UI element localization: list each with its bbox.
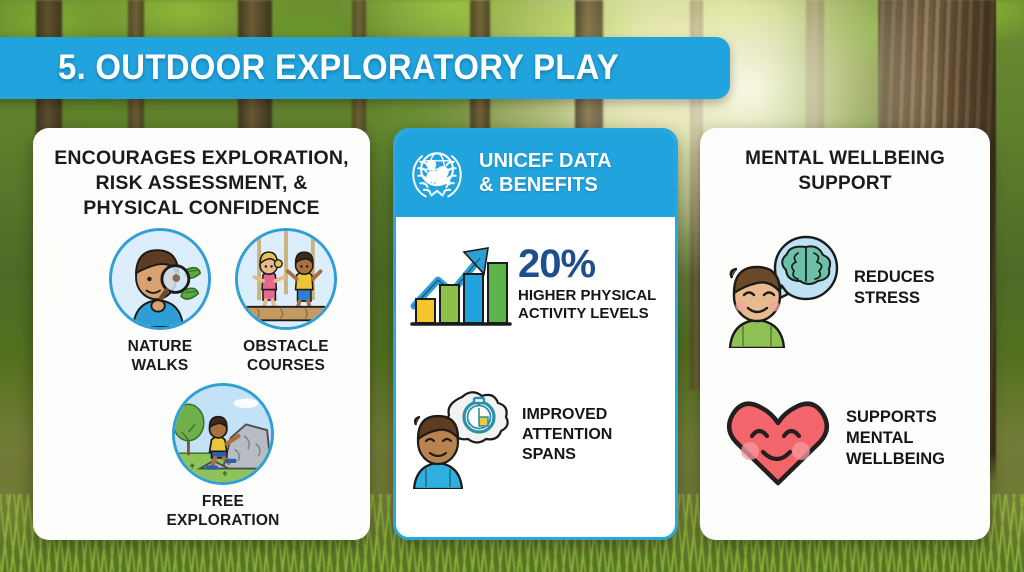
benefit-attention-spans: IMPROVED ATTENTION SPANS [410,381,670,489]
slide-canvas: 5. OUTDOOR EXPLORATORY PLAY ENCOURAGES E… [0,0,1024,572]
slide-title: 5. OUTDOOR EXPLORATORY PLAY [58,48,619,88]
growth-bar-chart-arrow-icon [408,236,512,331]
unicef-logo-icon [407,143,467,203]
left-card-heading-line-1: ENCOURAGES EXPLORATION, [51,146,352,171]
right-card-heading: MENTAL WELLBEING SUPPORT [700,128,990,196]
row-reduces-stress: REDUCES STRESS [722,228,972,348]
slide-title-banner: 5. OUTDOOR EXPLORATORY PLAY [0,37,730,99]
right-card-heading-line-1: MENTAL WELLBEING [722,146,968,171]
card-unicef-data-benefits: UNICEF DATA & BENEFITS [393,128,678,540]
card-mental-wellbeing-support: MENTAL WELLBEING SUPPORT [700,128,990,540]
tile-obstacle-courses-label: OBSTACLE COURSES [243,337,329,375]
tile-free-exploration[interactable]: FREE EXPLORATION [158,383,288,530]
child-climbing-rock-icon [172,383,274,485]
stat-caption: HIGHER PHYSICAL ACTIVITY LEVELS [518,287,656,324]
children-on-log-balance-beam-icon [235,228,337,330]
row-supports-mental-wellbeing-label: SUPPORTS MENTAL WELLBEING [846,407,945,470]
child-with-brain-thought-bubble-icon [722,228,842,348]
row-supports-mental-wellbeing: SUPPORTS MENTAL WELLBEING [722,388,972,488]
left-card-heading-line-3: PHYSICAL CONFIDENCE [51,196,352,221]
tile-free-exploration-label: FREE EXPLORATION [166,492,279,530]
card-encourages-exploration: ENCOURAGES EXPLORATION, RISK ASSESSMENT,… [33,128,370,540]
smiling-heart-icon [722,388,834,488]
tile-nature-walks[interactable]: NATURE WALKS [95,228,225,375]
stat-value: 20% [518,244,656,284]
right-card-heading-line-2: SUPPORT [722,171,968,196]
unicef-header-bar: UNICEF DATA & BENEFITS [393,128,678,217]
row-reduces-stress-label: REDUCES STRESS [854,267,935,309]
left-card-heading: ENCOURAGES EXPLORATION, RISK ASSESSMENT,… [33,128,370,221]
stat-physical-activity: 20% HIGHER PHYSICAL ACTIVITY LEVELS [408,236,666,331]
left-card-heading-line-2: RISK ASSESSMENT, & [51,171,352,196]
child-thinking-stopwatch-icon [410,381,518,489]
tile-obstacle-courses[interactable]: OBSTACLE COURSES [221,228,351,375]
tile-nature-walks-label: NATURE WALKS [128,337,193,375]
child-with-magnifying-glass-icon [109,228,211,330]
unicef-header-title: UNICEF DATA & BENEFITS [479,149,612,197]
benefit-attention-caption: IMPROVED ATTENTION SPANS [522,405,612,465]
